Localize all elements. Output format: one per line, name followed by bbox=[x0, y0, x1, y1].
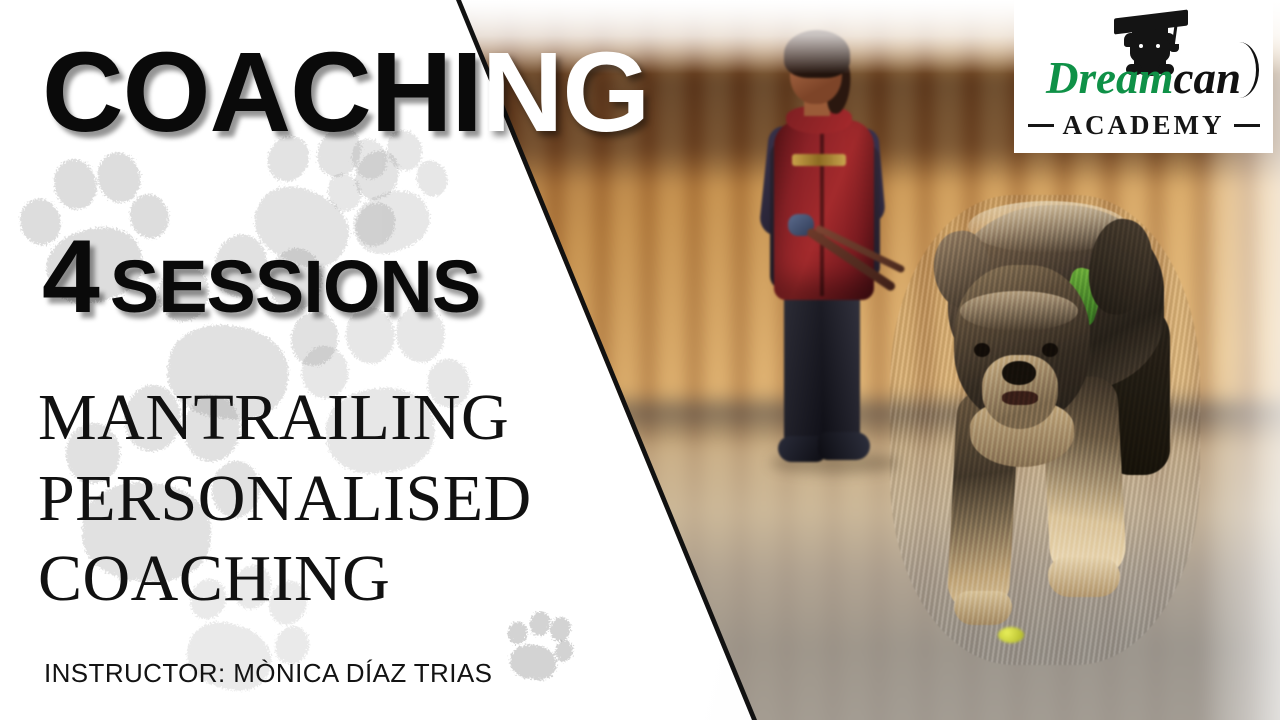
brand-subtitle-row: ACADEMY bbox=[1014, 110, 1273, 141]
page-title-light-part: NG bbox=[482, 29, 650, 155]
brand-wordmark-first: Dream bbox=[1046, 53, 1174, 103]
course-subtitle-line: COACHING bbox=[38, 539, 532, 620]
handler-vest bbox=[774, 120, 874, 300]
brand-subtitle: ACADEMY bbox=[1063, 110, 1225, 141]
sessions-count: 4SESSIONS bbox=[42, 225, 480, 329]
brand-logo-inner: Dreamcan ACADEMY bbox=[1014, 0, 1273, 153]
instructor-credit: INSTRUCTOR: MÒNICA DÍAZ TRIAS bbox=[44, 658, 492, 689]
brand-logo[interactable]: Dreamcan ACADEMY bbox=[1014, 0, 1273, 153]
sessions-number: 4 bbox=[42, 219, 100, 335]
dog-figure bbox=[890, 195, 1200, 665]
logo-dog-eye-right bbox=[1156, 44, 1160, 48]
course-subtitle-line: MANTRAILING bbox=[38, 378, 532, 459]
logo-dog-eye-left bbox=[1139, 44, 1143, 48]
course-subtitle: MANTRAILING PERSONALISED COACHING bbox=[38, 378, 532, 620]
handler-leg-right bbox=[822, 290, 860, 450]
brand-dash-left-icon bbox=[1028, 124, 1054, 127]
page-title-dark-part: COACHI bbox=[42, 29, 482, 155]
tennis-ball bbox=[998, 627, 1024, 643]
handler-chest-detail bbox=[792, 154, 846, 166]
course-subtitle-line: PERSONALISED bbox=[38, 459, 532, 540]
sessions-label: SESSIONS bbox=[110, 245, 480, 328]
handler-shoe-right bbox=[818, 432, 870, 460]
brand-dash-right-icon bbox=[1234, 124, 1260, 127]
dog-fur-texture bbox=[890, 195, 1200, 665]
logo-cap-tassel-end bbox=[1169, 44, 1179, 52]
poster-canvas: COACHING 4SESSIONS MANTRAILING PERSONALI… bbox=[0, 0, 1280, 720]
handler-vest-zip bbox=[820, 124, 824, 296]
handler-leg-left bbox=[784, 290, 822, 450]
page-title: COACHING bbox=[42, 36, 649, 149]
